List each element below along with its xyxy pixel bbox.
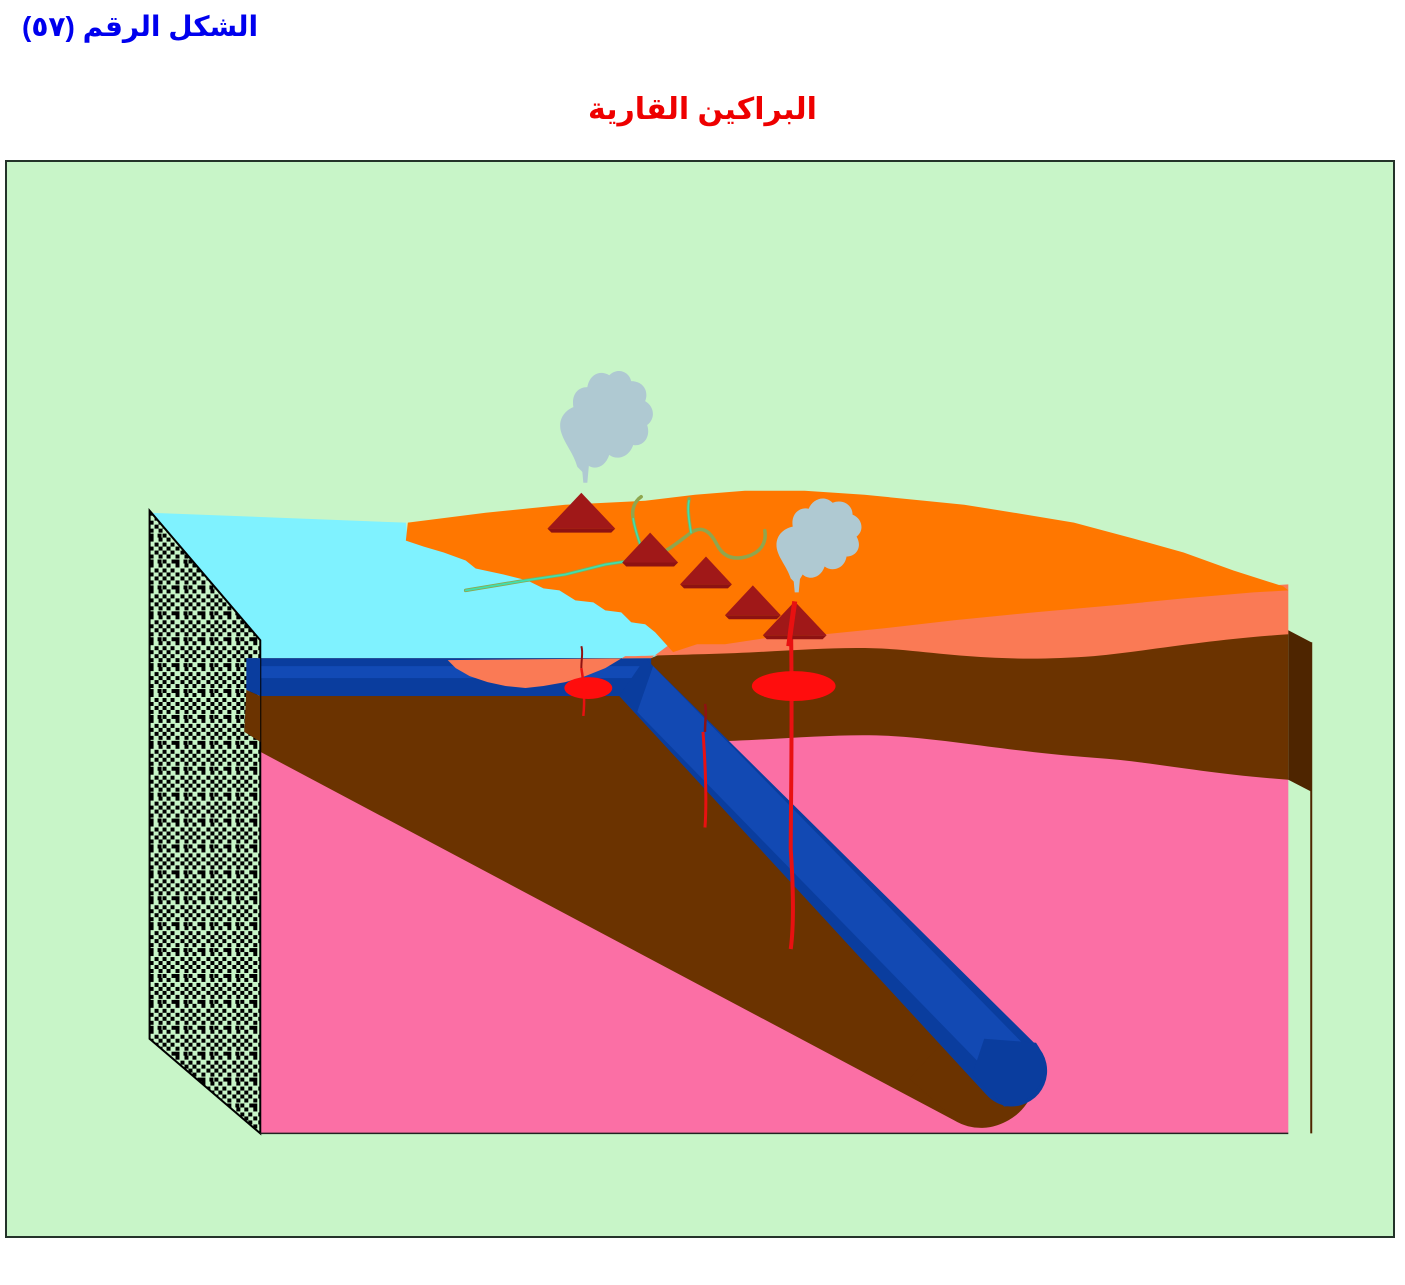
geology-block-diagram bbox=[7, 162, 1393, 1236]
volcano-2-shadow bbox=[622, 563, 678, 567]
magma-chamber-large bbox=[752, 671, 836, 701]
volcano-3-shadow bbox=[680, 584, 732, 588]
smoke-plume-left bbox=[560, 371, 653, 473]
volcano-4-shadow bbox=[725, 615, 781, 619]
left-face-layer-edge bbox=[244, 658, 260, 742]
volcano-5-shadow bbox=[763, 635, 827, 639]
magma-chamber-small bbox=[564, 677, 612, 699]
diagram-frame bbox=[5, 160, 1395, 1238]
volcano-1-shadow bbox=[547, 529, 615, 533]
figure-number: الشكل الرقم (٥٧) bbox=[22, 10, 258, 43]
page-title: البراكين القارية bbox=[0, 92, 1405, 127]
lithosphere-right-face bbox=[1288, 630, 1311, 791]
